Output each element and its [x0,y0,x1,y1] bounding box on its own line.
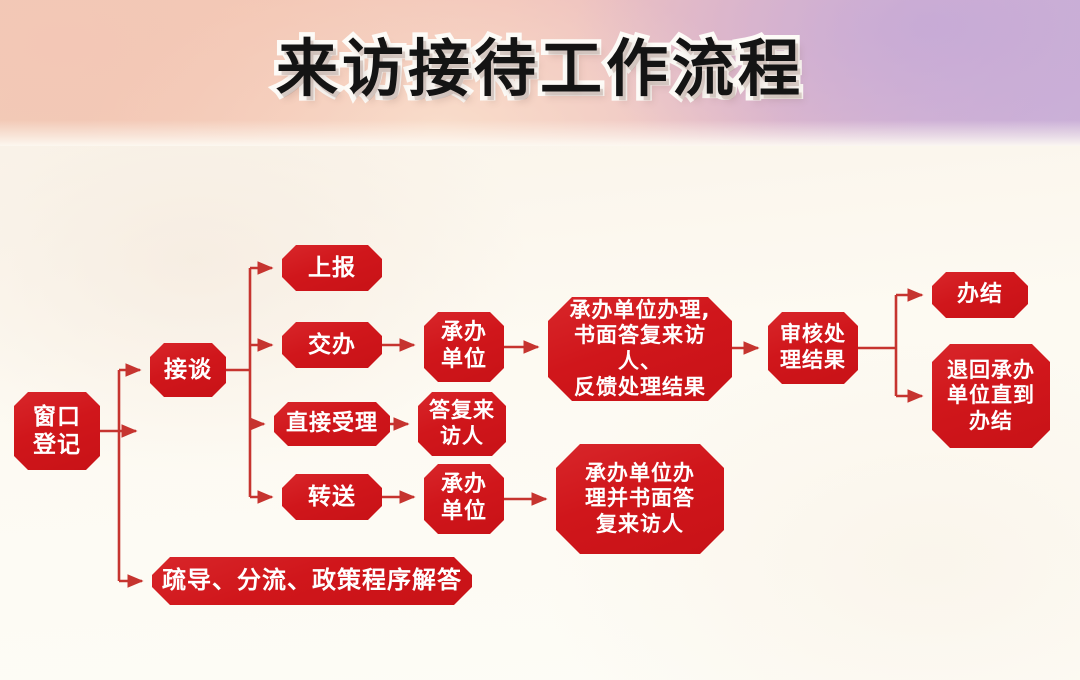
node-return-to-handling-unit-until-complete[interactable]: 退回承办 单位直到 办结 [932,344,1050,448]
node-handling-unit-lower[interactable]: 承办 单位 [424,464,504,534]
node-report-up[interactable]: 上报 [282,245,382,291]
node-label-line1: 直接受理 [286,411,378,438]
node-label-line3: 办结 [947,409,1035,435]
node-label-line2: 单位 [441,499,487,526]
node-label-line1: 承办 [441,320,487,347]
page-title: 来访接待工作流程 [0,18,1080,108]
node-reply-to-visitor[interactable]: 答复来 访人 [418,392,506,456]
node-handling-unit-process-and-reply[interactable]: 承办单位办理, 书面答复来访人、 反馈处理结果 [548,297,732,401]
node-label-line1: 审核处 [780,322,846,348]
node-label-line1: 窗口 [33,403,81,431]
node-label-line2: 访人 [429,424,495,450]
node-completed[interactable]: 办结 [932,272,1028,318]
node-label-line1: 退回承办 [947,358,1035,384]
node-label-line1: 答复来 [429,398,495,424]
node-handling-unit-upper[interactable]: 承办 单位 [424,312,504,382]
node-label-line1: 转送 [308,483,356,511]
node-direct-acceptance[interactable]: 直接受理 [274,402,390,446]
node-label-line1: 上报 [308,254,356,282]
node-label-line2: 理并书面答 [585,486,695,512]
node-review-result[interactable]: 审核处 理结果 [768,312,858,384]
node-transfer[interactable]: 转送 [282,474,382,520]
node-label-line1: 承办单位办 [585,461,695,487]
node-assign[interactable]: 交办 [282,322,382,368]
node-label-line1: 办结 [957,282,1003,309]
node-label-line3: 反馈处理结果 [554,375,726,401]
node-label-line1: 接谈 [164,356,212,384]
node-label-line1: 疏导、分流、政策程序解答 [162,566,462,595]
node-label-line2: 单位直到 [947,383,1035,409]
node-interview[interactable]: 接谈 [150,343,226,397]
node-label-line1: 承办 [441,472,487,499]
node-label-line2: 理结果 [780,348,846,374]
node-label-line3: 复来访人 [585,512,695,538]
node-label-line1: 交办 [308,331,356,359]
node-guidance-diversion-policy-answer[interactable]: 疏导、分流、政策程序解答 [152,557,472,605]
node-label-line2: 书面答复来访人、 [554,323,726,374]
flowchart-page: 来访接待工作流程 [0,0,1080,680]
node-label-line1: 承办单位办理, [554,298,726,324]
node-label-line2: 单位 [441,347,487,374]
node-label-line2: 登记 [33,431,81,459]
node-handling-unit-process-written-reply[interactable]: 承办单位办 理并书面答 复来访人 [556,444,724,554]
node-window-registration[interactable]: 窗口 登记 [14,392,100,470]
